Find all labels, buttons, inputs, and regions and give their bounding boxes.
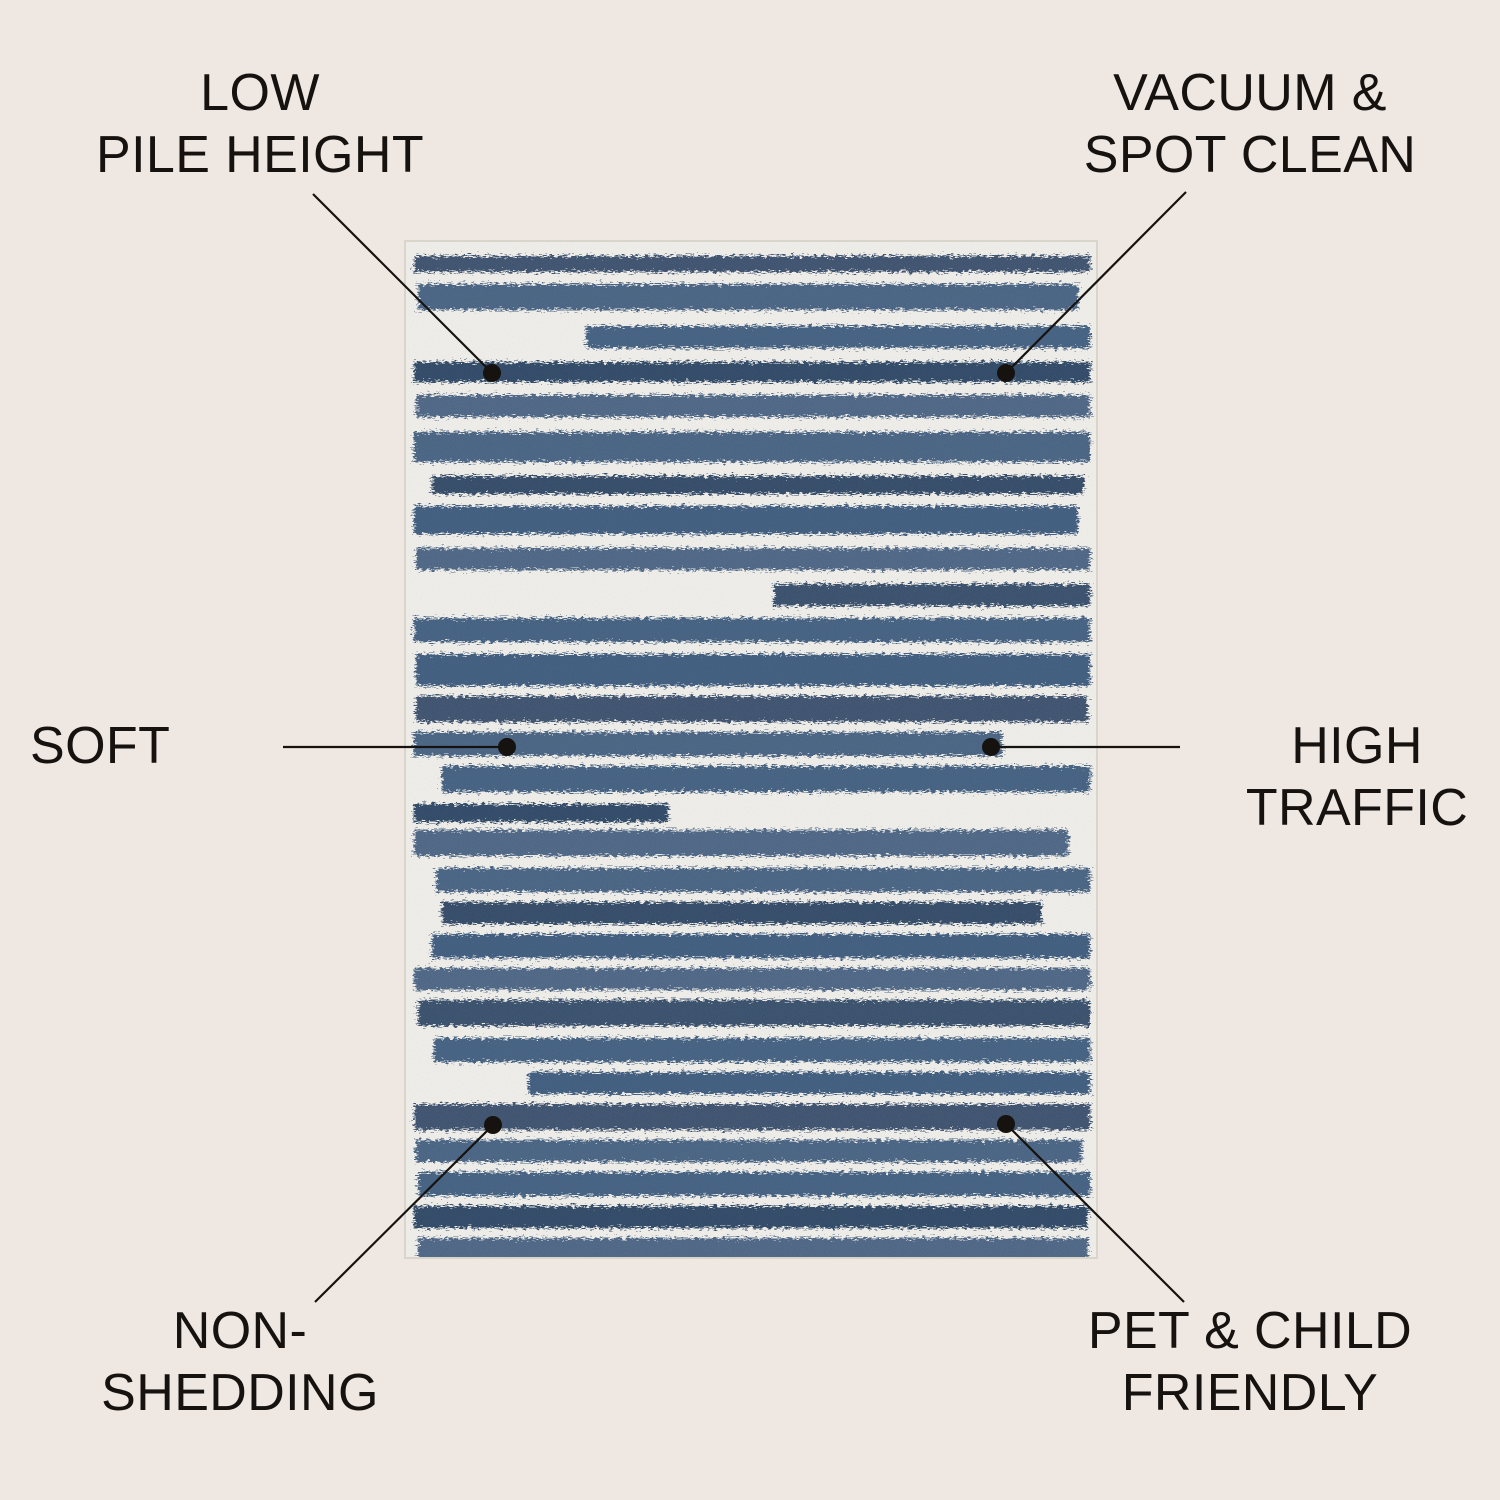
- rug-grain-overlay: [404, 240, 1098, 1259]
- infographic-canvas: LOW PILE HEIGHT VACUUM & SPOT CLEAN SOFT…: [0, 0, 1500, 1500]
- callout-label-vacuum-spot-clean: VACUUM & SPOT CLEAN: [1010, 62, 1490, 186]
- rug-product-image: [404, 240, 1098, 1259]
- callout-label-non-shedding: NON- SHEDDING: [20, 1300, 460, 1424]
- callout-label-pet-child-friendly: PET & CHILD FRIENDLY: [1010, 1300, 1490, 1424]
- rug-pattern-svg: [404, 240, 1098, 1259]
- callout-label-soft: SOFT: [30, 715, 260, 777]
- callout-label-high-traffic: HIGH TRAFFIC: [1232, 715, 1482, 839]
- callout-label-low-pile-height: LOW PILE HEIGHT: [20, 62, 500, 186]
